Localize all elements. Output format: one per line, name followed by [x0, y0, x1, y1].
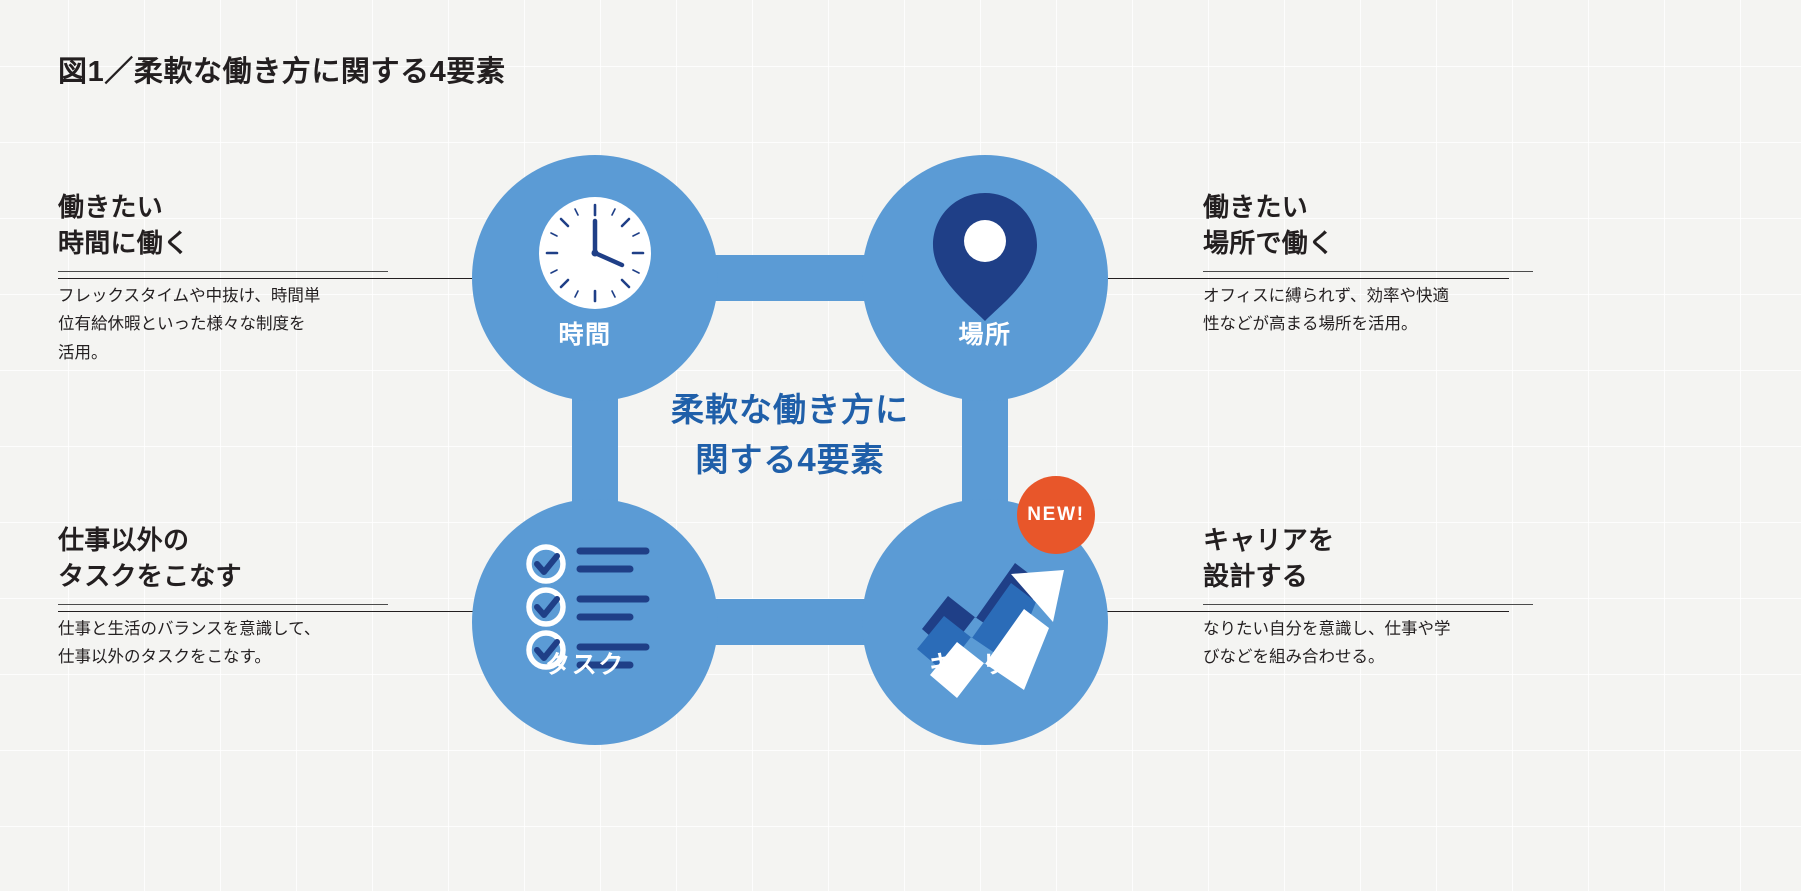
callout-place-heading: 働きたい 場所で働く: [1203, 190, 1533, 262]
callout-career-body-line1: なりたい自分を意識し、仕事や学: [1203, 615, 1533, 643]
center-title-line2: 関する4要素: [600, 435, 980, 485]
node-label-task: タスク: [470, 645, 700, 681]
center-title-line1: 柔軟な働き方に: [600, 385, 980, 435]
center-title: 柔軟な働き方に 関する4要素: [600, 385, 980, 485]
callout-career-heading-line2: 設計する: [1203, 561, 1308, 591]
callout-task-heading-line1: 仕事以外の: [58, 525, 189, 555]
callout-place-body: オフィスに縛られず、効率や快適 性などが高まる場所を活用。: [1203, 282, 1533, 339]
callout-task-body: 仕事と生活のバランスを意識して、 仕事以外のタスクをこなす。: [58, 615, 388, 672]
callout-task-heading: 仕事以外の タスクをこなす: [58, 523, 388, 595]
callout-time-body-line1: フレックスタイムや中抜け、時間単: [58, 282, 388, 310]
callout-place-heading-line2: 場所で働く: [1203, 228, 1334, 258]
callout-career: キャリアを 設計する なりたい自分を意識し、仕事や学 びなどを組み合わせる。: [1203, 523, 1533, 672]
node-circle-task[interactable]: [472, 499, 718, 745]
callout-time-body-line3: 活用。: [58, 339, 388, 367]
callout-career-body: なりたい自分を意識し、仕事や学 びなどを組み合わせる。: [1203, 615, 1533, 672]
callout-career-heading: キャリアを 設計する: [1203, 523, 1533, 595]
callout-time: 働きたい 時間に働く フレックスタイムや中抜け、時間単 位有給休暇といった様々な…: [58, 190, 388, 367]
node-label-time: 時間: [470, 315, 700, 351]
callout-time-body: フレックスタイムや中抜け、時間単 位有給休暇といった様々な制度を 活用。: [58, 282, 388, 367]
callout-task: 仕事以外の タスクをこなす 仕事と生活のバランスを意識して、 仕事以外のタスクを…: [58, 523, 388, 672]
node-label-career: キャリア: [862, 645, 1102, 681]
four-elements-diagram: 時間 場所 タスク キャリア 柔軟な働き方に 関する4要素 NEW!: [470, 155, 1110, 745]
callout-task-heading-line2: タスクをこなす: [58, 561, 242, 591]
callout-time-heading: 働きたい 時間に働く: [58, 190, 388, 262]
callout-place-body-line1: オフィスに縛られず、効率や快適: [1203, 282, 1533, 310]
callout-time-divider: [58, 271, 388, 272]
callout-place-divider: [1203, 271, 1533, 272]
callout-place: 働きたい 場所で働く オフィスに縛られず、効率や快適 性などが高まる場所を活用。: [1203, 190, 1533, 339]
callout-career-divider: [1203, 604, 1533, 605]
callout-task-divider: [58, 604, 388, 605]
callout-career-body-line2: びなどを組み合わせる。: [1203, 643, 1533, 671]
callout-time-heading-line2: 時間に働く: [58, 228, 189, 258]
page-title: 図1／柔軟な働き方に関する4要素: [58, 48, 506, 90]
node-label-place: 場所: [870, 315, 1100, 351]
callout-place-body-line2: 性などが高まる場所を活用。: [1203, 310, 1533, 338]
new-badge: NEW!: [1017, 476, 1095, 554]
clock-icon: [539, 197, 651, 309]
callout-task-body-line2: 仕事以外のタスクをこなす。: [58, 643, 388, 671]
callout-time-heading-line1: 働きたい: [58, 192, 163, 222]
callout-task-body-line1: 仕事と生活のバランスを意識して、: [58, 615, 388, 643]
callout-place-heading-line1: 働きたい: [1203, 192, 1308, 222]
callout-career-heading-line1: キャリアを: [1203, 525, 1334, 555]
callout-time-body-line2: 位有給休暇といった様々な制度を: [58, 310, 388, 338]
